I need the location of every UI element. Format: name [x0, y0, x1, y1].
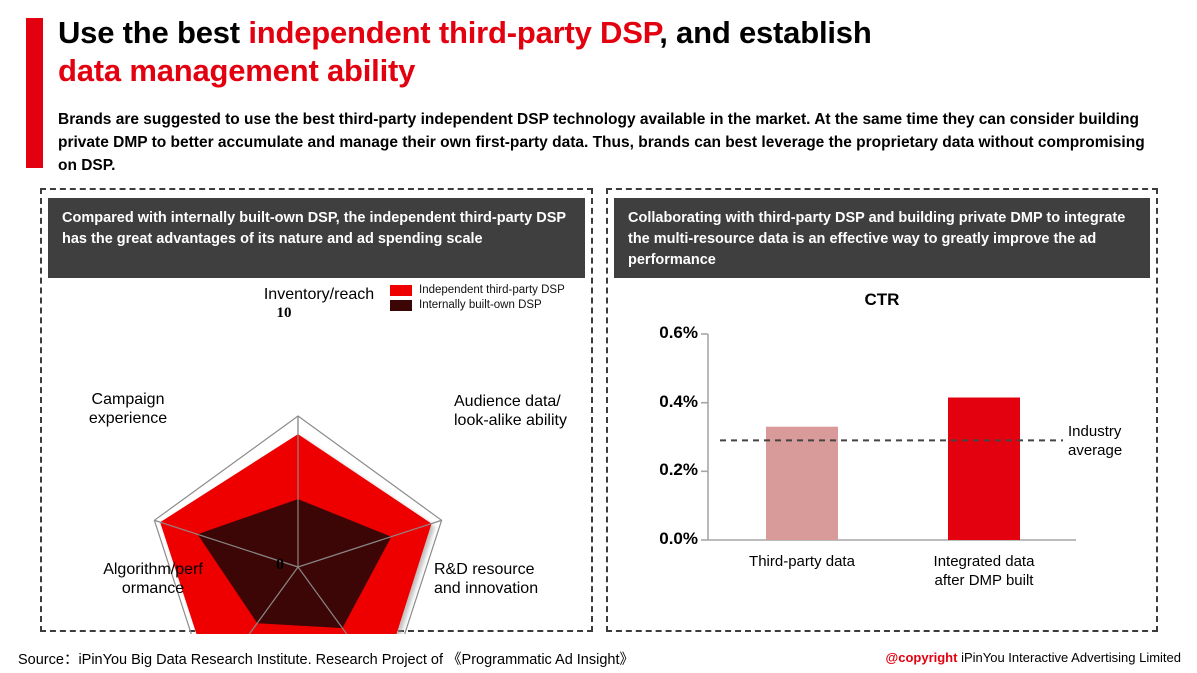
- radar-series-group: [154, 416, 441, 634]
- title-line-2: data management ability: [58, 52, 1158, 90]
- copyright-mark: @copyright: [886, 650, 958, 665]
- radar-axis-label-audience-line1: Audience data/: [454, 392, 604, 411]
- title-accent-bar: [26, 18, 43, 168]
- bar-ytick-3: 0.6%: [636, 323, 698, 343]
- radar-axis-label-campaign-line1: Campaign: [64, 390, 192, 409]
- bar-ytick-1: 0.2%: [636, 460, 698, 480]
- radar-scale-max-label: 10: [224, 304, 344, 323]
- title-segment-black-1: Use the best: [58, 15, 248, 50]
- radar-axis-label-audience: Audience data/ look-alike ability: [454, 392, 604, 430]
- radar-axis-label-rd-line1: R&D resource: [434, 560, 594, 579]
- panel-right: Collaborating with third-party DSP and b…: [606, 188, 1158, 632]
- bar-ytick-0: 0.0%: [636, 529, 698, 549]
- industry-average-line2: average: [1068, 441, 1173, 460]
- bar-chart-bars: [766, 398, 1020, 541]
- title-segment-red-1: independent third-party DSP: [248, 15, 659, 50]
- radar-axis-label-inventory: Inventory/reach: [224, 285, 414, 304]
- copyright-company: iPinYou Interactive Advertising Limited: [961, 650, 1181, 665]
- panel-left-header: Compared with internally built-own DSP, …: [48, 198, 585, 278]
- bar-xtick-integrated: Integrated data after DMP built: [894, 552, 1074, 590]
- page-title: Use the best independent third-party DSP…: [58, 14, 1158, 90]
- radar-axis-label-audience-line2: look-alike ability: [454, 411, 604, 430]
- radar-axis-label-campaign-line2: experience: [64, 409, 192, 428]
- industry-average-label: Industry average: [1068, 422, 1173, 460]
- title-line-1: Use the best independent third-party DSP…: [58, 14, 1158, 52]
- radar-axis-label-algorithm-line2: ormance: [84, 579, 222, 598]
- footer-copyright: @copyright iPinYou Interactive Advertisi…: [886, 650, 1181, 665]
- radar-axis-label-campaign: Campaign experience: [64, 390, 192, 428]
- title-segment-black-2: , and establish: [659, 15, 871, 50]
- radar-zero-label: 0: [276, 556, 284, 573]
- panel-left: Compared with internally built-own DSP, …: [40, 188, 593, 632]
- bar-xtick-third-party: Third-party data: [712, 552, 892, 571]
- subtitle-paragraph: Brands are suggested to use the best thi…: [58, 108, 1153, 177]
- footer-source: Source：iPinYou Big Data Research Institu…: [18, 648, 634, 669]
- radar-axis-label-algorithm-line1: Algorithm/perf: [84, 560, 222, 579]
- radar-axis-label-algorithm: Algorithm/perf ormance: [84, 560, 222, 598]
- bar-chart-area: CTR 0.0% 0.2% 0.4% 0.6% Third-party data…: [608, 282, 1156, 630]
- radar-chart-area: Independent third-party DSP Internally b…: [42, 282, 591, 630]
- industry-average-line1: Industry: [1068, 422, 1173, 441]
- bar-rect: [948, 398, 1020, 541]
- bar-xtick-third-party-line1: Third-party data: [712, 552, 892, 571]
- radar-axis-label-rd-line2: and innovation: [434, 579, 594, 598]
- bar-xtick-integrated-line1: Integrated data: [894, 552, 1074, 571]
- panel-right-header: Collaborating with third-party DSP and b…: [614, 198, 1150, 278]
- bar-rect: [766, 427, 838, 540]
- radar-axis-label-rd: R&D resource and innovation: [434, 560, 594, 598]
- bar-ytick-2: 0.4%: [636, 392, 698, 412]
- bar-xtick-integrated-line2: after DMP built: [894, 571, 1074, 590]
